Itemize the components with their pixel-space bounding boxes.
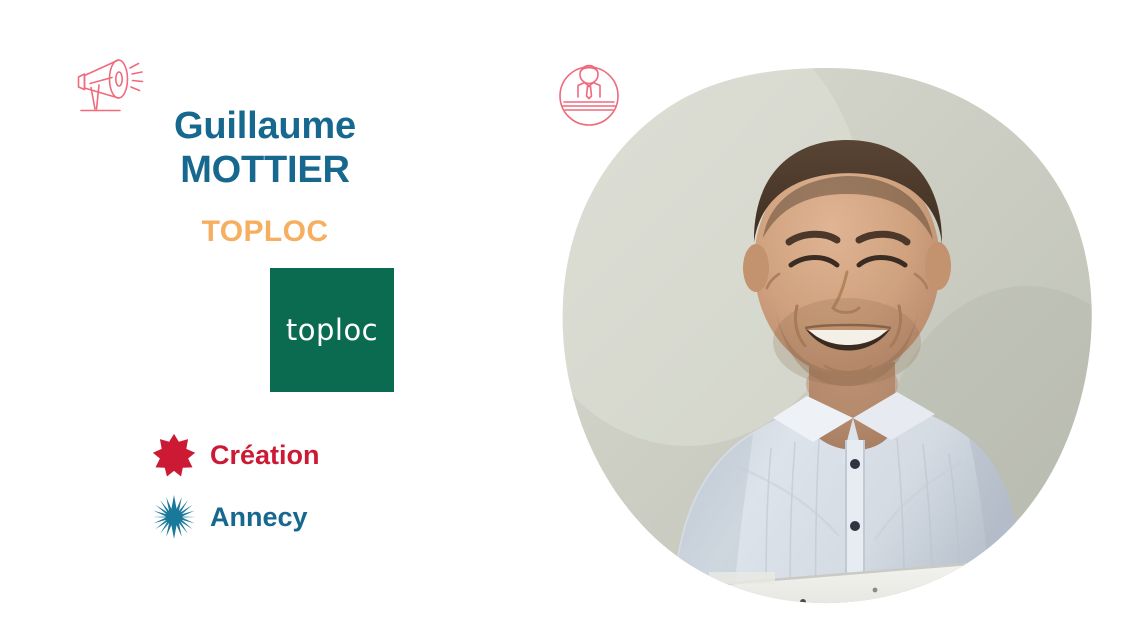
company-logo: toploc [270, 268, 394, 392]
fact-label-creation: Création [210, 442, 320, 469]
portrait-photo-svg [557, 66, 1097, 622]
eight-point-star-icon [152, 433, 196, 477]
profile-slide: Guillaume MOTTIER TOPLOC toploc Création… [0, 0, 1140, 633]
fact-list: Création Annecy [152, 424, 320, 548]
fact-label-annecy: Annecy [210, 504, 308, 531]
company-logo-text: toploc [286, 313, 378, 347]
list-item: Annecy [152, 486, 320, 548]
list-item: Création [152, 424, 320, 486]
company-name: TOPLOC [40, 215, 490, 249]
page-title: Guillaume MOTTIER [40, 104, 490, 193]
starburst-icon [152, 495, 196, 539]
first-name: Guillaume [40, 104, 490, 148]
last-name: MOTTIER [40, 148, 490, 192]
portrait-photo [557, 66, 1097, 622]
